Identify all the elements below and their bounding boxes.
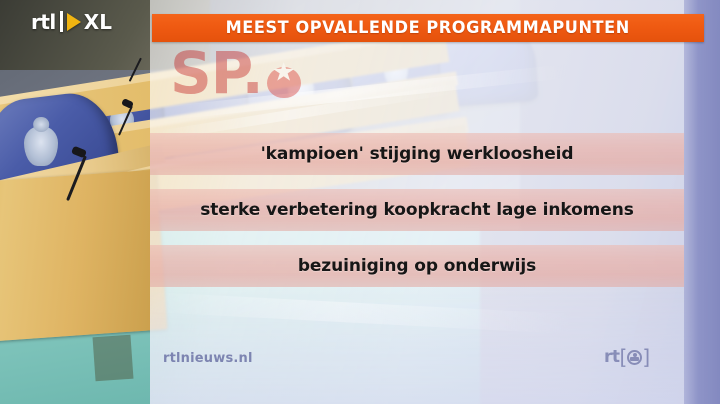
- xl-logo-text: XL: [84, 12, 112, 32]
- program-point-row: 'kampioen' stijging werkloosheid: [150, 133, 684, 175]
- globe-icon: [627, 350, 642, 365]
- program-point-text: bezuiniging op onderwijs: [298, 256, 536, 276]
- bracket-left-icon: [: [620, 348, 628, 366]
- rtl-xl-logo: rtl XL: [31, 11, 112, 32]
- rtl-logo-text: rtl: [31, 12, 56, 32]
- logo-divider-bar: [60, 11, 63, 32]
- rtl-nieuws-logo: rt [ ]: [604, 348, 650, 366]
- rtl-nieuws-logo-text: rt: [604, 349, 620, 366]
- play-triangle-icon: [67, 13, 81, 31]
- broadcast-graphic-frame: SP. MEEST OPVALLENDE PROGRAMMAPUNTEN rtl…: [0, 0, 720, 404]
- program-point-row: sterke verbetering koopkracht lage inkom…: [150, 189, 684, 231]
- parliament-desk-foreground: [0, 170, 167, 343]
- site-url-label: rtlnieuws.nl: [163, 351, 253, 366]
- program-point-text: 'kampioen' stijging werkloosheid: [261, 144, 574, 164]
- chair-crest-icon: [24, 126, 58, 166]
- bracket-right-icon: ]: [642, 348, 650, 366]
- program-point-text: sterke verbetering koopkracht lage inkom…: [200, 200, 634, 220]
- program-point-row: bezuiniging op onderwijs: [150, 245, 684, 287]
- desk-leg-shadow: [93, 335, 134, 382]
- program-points-list: 'kampioen' stijging werkloosheid sterke …: [150, 0, 720, 404]
